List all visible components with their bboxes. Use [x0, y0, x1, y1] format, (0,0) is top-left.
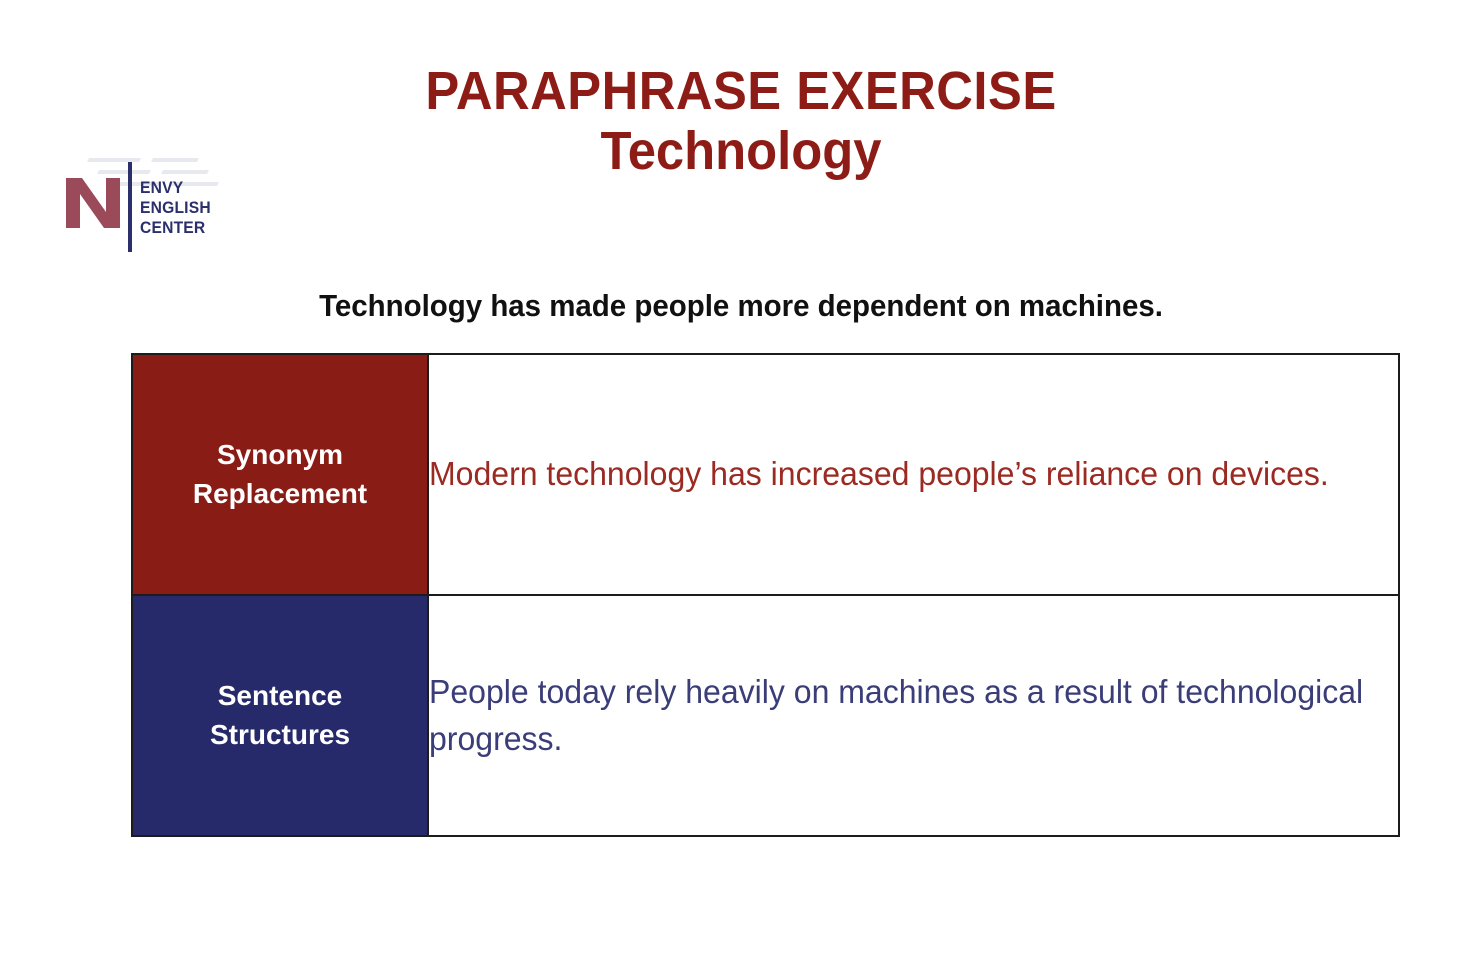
row-label-line-2: Structures: [133, 716, 427, 754]
row-content-text: People today rely heavily on machines as…: [429, 669, 1369, 763]
logo-divider: [128, 162, 132, 252]
table-row: Synonym Replacement Modern technology ha…: [132, 354, 1399, 595]
logo-wordmark-line-1: ENVY: [140, 178, 211, 198]
title-heading-main: PARAPHRASE EXERCISE: [44, 62, 1437, 120]
title-heading-topic: Technology: [44, 120, 1437, 184]
paraphrase-table: Synonym Replacement Modern technology ha…: [131, 353, 1400, 837]
logo-wordmark-line-2: ENGLISH: [140, 198, 211, 218]
prompt-sentence: Technology has made people more dependen…: [37, 288, 1445, 324]
row-content-sentence-structures: People today rely heavily on machines as…: [428, 595, 1399, 836]
logo-wordmark-line-3: CENTER: [140, 218, 211, 238]
row-label-line-2: Replacement: [133, 475, 427, 513]
brand-logo: ENVY ENGLISH CENTER: [62, 160, 242, 256]
logo-wordmark: ENVY ENGLISH CENTER: [140, 178, 211, 238]
table-row: Sentence Structures People today rely he…: [132, 595, 1399, 836]
row-content-synonym-replacement: Modern technology has increased people’s…: [428, 354, 1399, 595]
row-label-sentence-structures: Sentence Structures: [132, 595, 428, 836]
row-label-line-1: Synonym: [133, 436, 427, 474]
row-content-text: Modern technology has increased people’s…: [429, 451, 1369, 498]
row-label-line-1: Sentence: [133, 677, 427, 715]
logo-n-monogram-icon: [62, 172, 122, 234]
row-label-synonym-replacement: Synonym Replacement: [132, 354, 428, 595]
